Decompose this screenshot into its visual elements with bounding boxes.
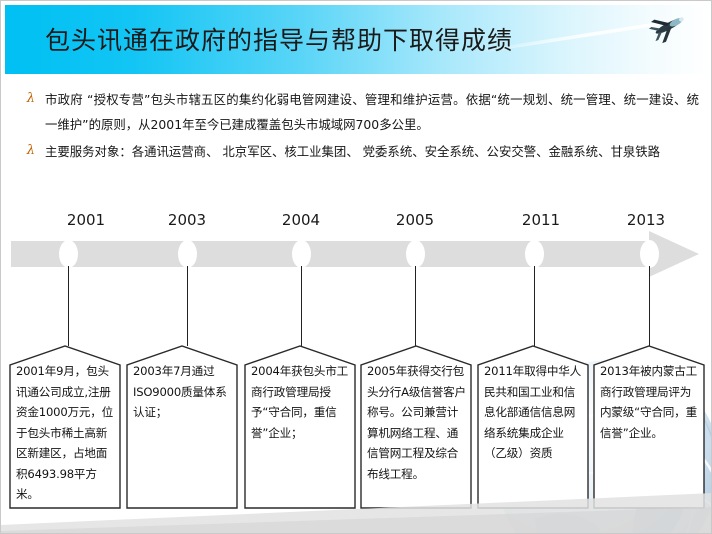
timeline-connector-2004 (301, 266, 302, 346)
timeline: 2001 2003 2004 2005 2011 2013 (1, 211, 712, 341)
callout-2001: 2001年9月，包头讯通公司成立,注册资金1000万元，位于包头市稀土高新区新建… (9, 343, 121, 509)
callout-2011: 2011年取得中华人民共和国工业和信息化部通信信息网络系统集成企业（乙级）资质 (477, 343, 589, 509)
timeline-node-2005 (406, 240, 425, 268)
timeline-year-2013: 2013 (606, 211, 686, 229)
callout-text: 2005年获得交行包头分行A级信誉客户称号。公司兼营计算机网络工程、通信管网工程… (367, 361, 466, 503)
timeline-node-2004 (292, 240, 311, 268)
timeline-node-2001 (59, 240, 78, 268)
bullet-list: λ 市政府 “授权专营”包头市辖五区的集约化弱电管网建设、管理和维护运营。依据“… (1, 87, 712, 166)
page-title: 包头讯通在政府的指导与帮助下取得成绩 (45, 21, 513, 57)
airplane-icon (645, 6, 693, 46)
callout-2005: 2005年获得交行包头分行A级信誉客户称号。公司兼营计算机网络工程、通信管网工程… (360, 343, 472, 509)
callout-2003: 2003年7月通过ISO9000质量体系认证； (126, 343, 238, 509)
bullet-text: 主要服务对象：各通讯运营商、 北京军区、核工业集团、 党委系统、安全系统、公安交… (45, 139, 712, 164)
timeline-year-2011: 2011 (501, 211, 581, 229)
presentation-slide: 包头讯通在政府的指导与帮助下取得成绩 λ 市政府 “授权专营”包头市辖五区的集约… (0, 0, 712, 534)
callout-text: 2001年9月，包头讯通公司成立,注册资金1000万元，位于包头市稀土高新区新建… (16, 361, 115, 503)
timeline-connector-2011 (534, 266, 535, 346)
timeline-year-2004: 2004 (261, 211, 341, 229)
timeline-connector-2001 (68, 266, 69, 346)
bullet-item: λ 主要服务对象：各通讯运营商、 北京军区、核工业集团、 党委系统、安全系统、公… (1, 139, 712, 164)
timeline-node-2011 (525, 240, 544, 268)
timeline-connector-2003 (187, 266, 188, 346)
callout-text: 2004年获包头市工商行政管理局授予“守合同，重信誉”企业； (251, 361, 350, 503)
timeline-year-2005: 2005 (375, 211, 455, 229)
callout-text: 2003年7月通过ISO9000质量体系认证； (133, 361, 232, 503)
bullet-text: 市政府 “授权专营”包头市辖五区的集约化弱电管网建设、管理和维护运营。依据“统一… (45, 87, 712, 137)
callout-text: 2011年取得中华人民共和国工业和信息化部通信信息网络系统集成企业（乙级）资质 (484, 361, 583, 503)
timeline-year-2001: 2001 (46, 211, 126, 229)
bullet-item: λ 市政府 “授权专营”包头市辖五区的集约化弱电管网建设、管理和维护运营。依据“… (1, 87, 712, 137)
timeline-year-2003: 2003 (147, 211, 227, 229)
timeline-connector-2013 (649, 266, 650, 346)
callout-text: 2013年被内蒙古工商行政管理局评为内蒙级“守合同，重信誉”企业。 (600, 361, 699, 503)
lambda-bullet-icon: λ (1, 87, 45, 111)
timeline-node-2013 (640, 240, 659, 268)
lambda-bullet-icon: λ (1, 139, 45, 163)
timeline-node-2003 (178, 240, 197, 268)
timeline-connector-2005 (415, 266, 416, 346)
timeline-year-row: 2001 2003 2004 2005 2011 2013 (1, 211, 712, 237)
callout-box-list: 2001年9月，包头讯通公司成立,注册资金1000万元，位于包头市稀土高新区新建… (1, 343, 712, 513)
callout-2004: 2004年获包头市工商行政管理局授予“守合同，重信誉”企业； (244, 343, 356, 509)
callout-2013: 2013年被内蒙古工商行政管理局评为内蒙级“守合同，重信誉”企业。 (593, 343, 705, 509)
timeline-arrow-band (11, 241, 651, 267)
